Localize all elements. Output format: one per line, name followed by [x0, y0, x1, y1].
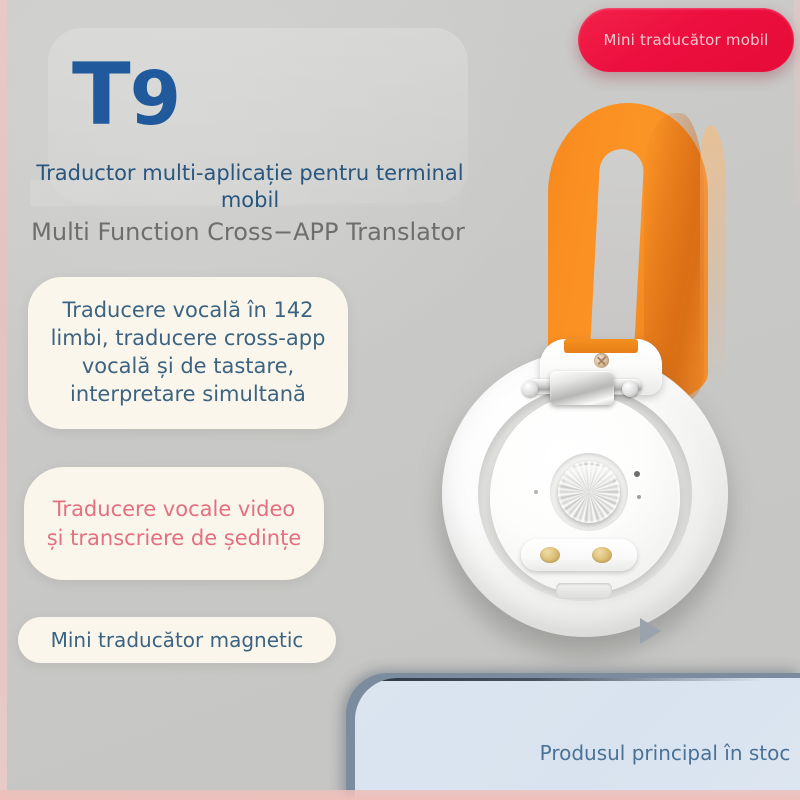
contact-pins-pad [521, 539, 637, 571]
device-bottom-notch [556, 583, 612, 599]
gold-contact-pin-right [592, 547, 612, 563]
hinge-cap-left [522, 381, 538, 397]
left-edge-band [0, 0, 7, 800]
hinge-cap-right [622, 381, 638, 397]
gold-contact-pin-left [540, 547, 560, 563]
feature-card-magnetic: Mini traducător magnetic [18, 617, 336, 663]
stock-panel-text: Produsul principal în stoc [535, 740, 795, 766]
product-poster: Mini traducător mobil T9 Traductor multi… [0, 0, 800, 800]
brand-logo-letter: T [72, 45, 130, 145]
screw-icon [594, 353, 609, 368]
microphone-dot-right [634, 471, 640, 477]
brand-logo-number: 9 [130, 56, 181, 142]
indicator-dot [637, 495, 641, 499]
bottom-edge-band [0, 790, 800, 800]
collar-strap-insert [564, 339, 638, 353]
hinge-block [550, 371, 614, 405]
mini-translator-badge[interactable]: Mini traducător mobil [578, 8, 794, 72]
feature-card-magnetic-text: Mini traducător magnetic [51, 628, 304, 652]
microphone-dot-left [534, 490, 538, 494]
feature-card-video-transcription-text: Traducere vocale video și transcriere de… [44, 495, 304, 551]
badge-label: Mini traducător mobil [603, 31, 768, 49]
stock-panel: Produsul principal în stoc [355, 678, 800, 800]
feature-card-languages-text: Traducere vocală în 142 limbi, traducere… [50, 297, 326, 409]
strap-highlight [700, 125, 726, 385]
brand-logo: T9 [72, 52, 180, 138]
feature-card-video-transcription: Traducere vocale video și transcriere de… [24, 467, 324, 580]
center-button-gloss [564, 465, 614, 491]
tagline-romanian: Traductor multi-aplicație pentru termina… [30, 160, 470, 214]
feature-card-languages: Traducere vocală în 142 limbi, traducere… [28, 277, 348, 429]
product-device [408, 95, 748, 675]
play-triangle-icon [640, 618, 661, 644]
